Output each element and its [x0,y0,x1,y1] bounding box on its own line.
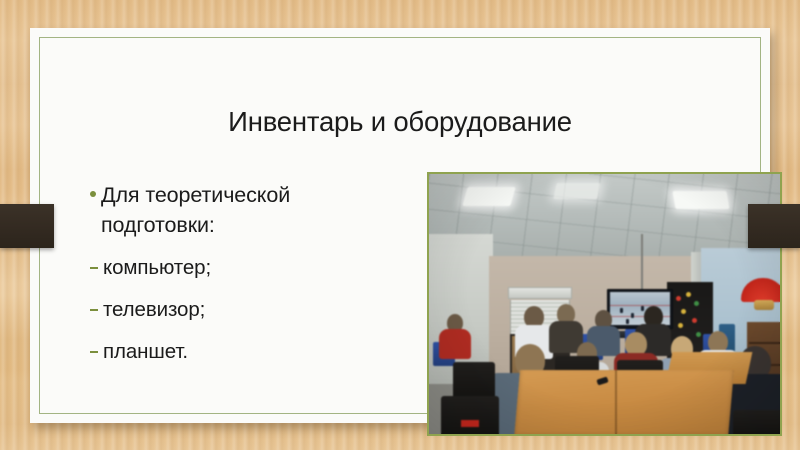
list-item-label: Для теоретической подготовки: [101,180,395,240]
hanging-cable [641,234,643,292]
roller-shutter-housing [508,287,572,299]
wooden-table [514,370,734,434]
list-item: телевизор; [90,295,395,324]
table-seam [615,370,617,434]
dash-icon [90,309,98,311]
chair [441,396,499,434]
wall-mounted-tv [607,289,673,329]
slide-root: Инвентарь и оборудование Для теоретическ… [0,0,800,450]
chair [733,410,780,434]
list-item-label: компьютер; [103,253,211,282]
list-item: компьютер; [90,253,395,282]
photo-scene [429,174,780,434]
dark-band-right [748,204,800,248]
dark-band-left [0,204,54,248]
ceiling-light-icon [672,191,729,209]
dash-icon [90,351,98,353]
lamp-base [754,300,774,310]
list-item-label: планшет. [103,337,188,366]
list-item: Для теоретической подготовки: [90,180,395,240]
ceiling-light-icon [462,187,515,206]
slide-photo [427,172,782,436]
page-title: Инвентарь и оборудование [90,106,710,138]
bullet-dot-icon [90,191,96,197]
list-item-label: телевизор; [103,295,205,324]
dash-icon [90,267,98,269]
ceiling-light-icon [553,183,600,199]
list-item: планшет. [90,337,395,366]
bullet-list: Для теоретической подготовки: компьютер;… [90,180,395,366]
slide-card: Инвентарь и оборудование Для теоретическ… [30,28,770,423]
